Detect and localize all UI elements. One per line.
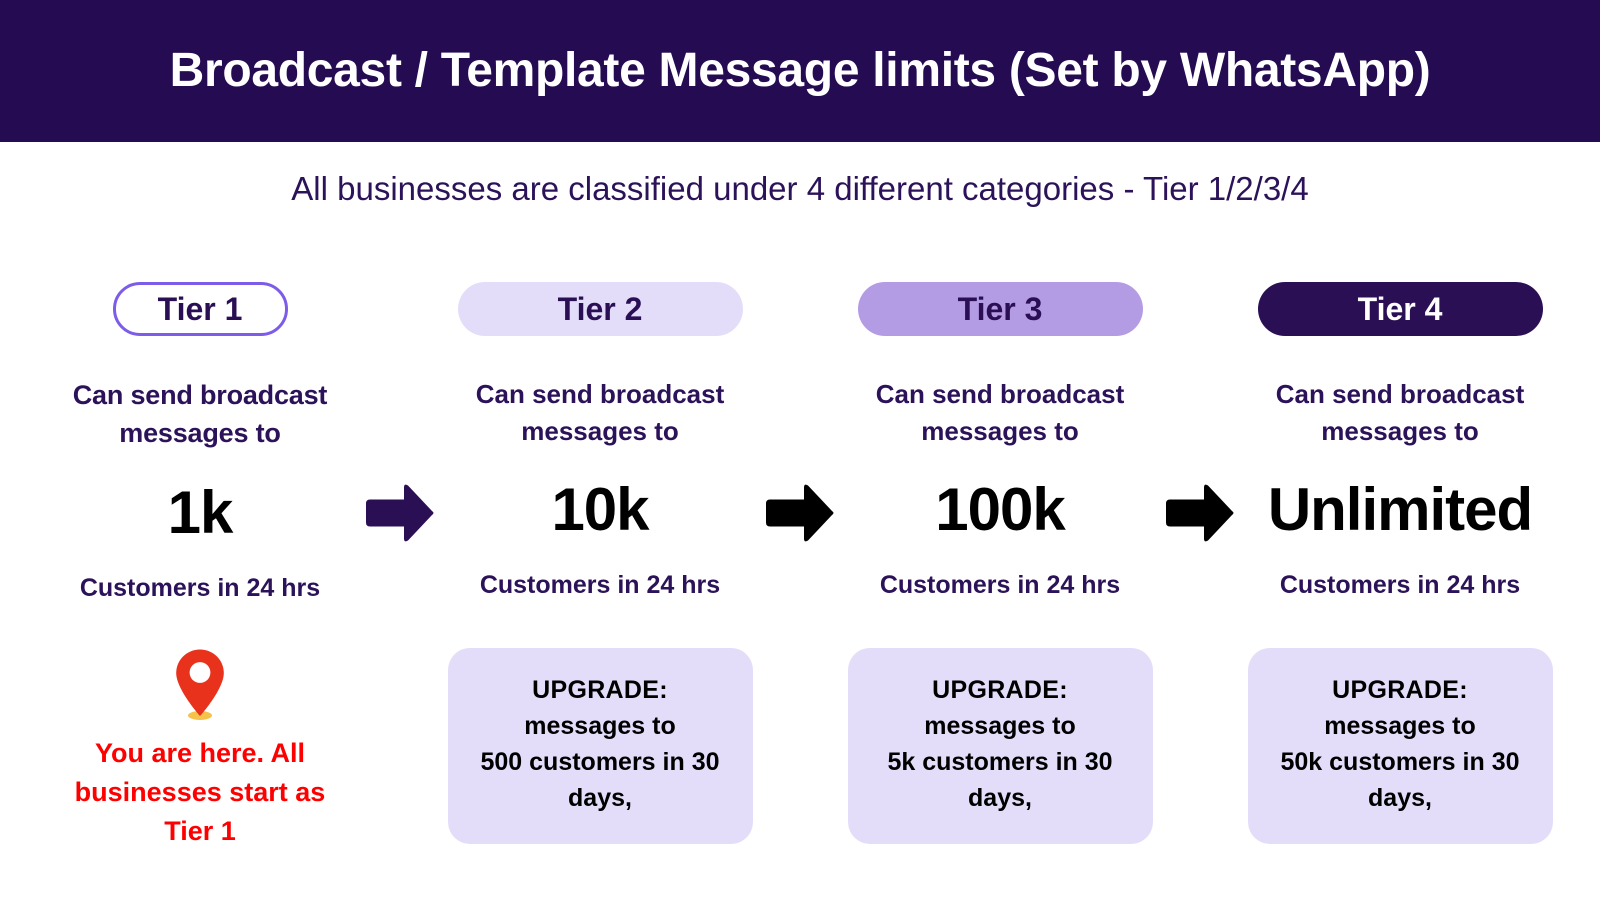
tier-description-line-2: messages to bbox=[450, 413, 750, 450]
tier-description-3: Can send broadcast messages to bbox=[850, 376, 1150, 450]
upgrade-card-2: UPGRADE: messages to 500 customers in 30… bbox=[448, 648, 753, 844]
upgrade-heading: UPGRADE: bbox=[532, 672, 668, 708]
tier-bottom-2: UPGRADE: messages to 500 customers in 30… bbox=[400, 648, 800, 844]
tier-description-line-2: messages to bbox=[850, 413, 1150, 450]
tier-limit-value-2: 10k bbox=[551, 480, 648, 540]
tier-description-1: Can send broadcast messages to bbox=[50, 376, 350, 453]
upgrade-line-3: 50k customers in 30 bbox=[1280, 744, 1519, 780]
upgrade-line-3: 500 customers in 30 bbox=[480, 744, 719, 780]
arrow-right-icon-1 bbox=[362, 482, 436, 544]
upgrade-heading: UPGRADE: bbox=[932, 672, 1068, 708]
tier-badge-1[interactable]: Tier 1 bbox=[113, 282, 288, 336]
upgrade-line-4: days, bbox=[968, 780, 1032, 816]
tier-limit-value-3: 100k bbox=[935, 480, 1064, 540]
upgrade-card-3: UPGRADE: messages to 5k customers in 30 … bbox=[848, 648, 1153, 844]
tier-column-3: Tier 3 Can send broadcast messages to 10… bbox=[800, 282, 1200, 882]
tier-column-2: Tier 2 Can send broadcast messages to 10… bbox=[400, 282, 800, 882]
upgrade-line-4: days, bbox=[568, 780, 632, 816]
tier-bottom-3: UPGRADE: messages to 5k customers in 30 … bbox=[800, 648, 1200, 844]
tier-columns: Tier 1 Can send broadcast messages to 1k… bbox=[0, 282, 1600, 882]
tier-description-line-1: Can send broadcast bbox=[850, 376, 1150, 413]
arrow-right-icon-2 bbox=[762, 482, 836, 544]
tier-column-4: Tier 4 Can send broadcast messages to Un… bbox=[1200, 282, 1600, 882]
tier-footnote-2: Customers in 24 hrs bbox=[480, 570, 720, 600]
tier-limit-value-4: Unlimited bbox=[1268, 480, 1532, 540]
tier-description-4: Can send broadcast messages to bbox=[1250, 376, 1550, 450]
tier-description-2: Can send broadcast messages to bbox=[450, 376, 750, 450]
upgrade-heading: UPGRADE: bbox=[1332, 672, 1468, 708]
upgrade-line-2: messages to bbox=[1324, 708, 1475, 744]
tier-description-line-1: Can send broadcast bbox=[450, 376, 750, 413]
tier-footnote-1: Customers in 24 hrs bbox=[80, 573, 320, 603]
upgrade-line-2: messages to bbox=[524, 708, 675, 744]
tier-badge-3[interactable]: Tier 3 bbox=[858, 282, 1143, 336]
subtitle-text: All businesses are classified under 4 di… bbox=[0, 168, 1600, 211]
tier-description-line-2: messages to bbox=[1250, 413, 1550, 450]
infographic-page: Broadcast / Template Message limits (Set… bbox=[0, 0, 1600, 900]
tier-limit-value-1: 1k bbox=[168, 483, 233, 543]
tier-bottom-1: You are here. All businesses start as Ti… bbox=[0, 648, 400, 851]
tier-footnote-3: Customers in 24 hrs bbox=[880, 570, 1120, 600]
tier-description-line-1: Can send broadcast bbox=[1250, 376, 1550, 413]
you-are-here-text: You are here. All businesses start as Ti… bbox=[50, 734, 350, 851]
tier-badge-2[interactable]: Tier 2 bbox=[458, 282, 743, 336]
tier-bottom-4: UPGRADE: messages to 50k customers in 30… bbox=[1200, 648, 1600, 844]
tier-badge-4[interactable]: Tier 4 bbox=[1258, 282, 1543, 336]
tier-description-line-1: Can send broadcast bbox=[50, 376, 350, 414]
upgrade-line-4: days, bbox=[1368, 780, 1432, 816]
tier-footnote-4: Customers in 24 hrs bbox=[1280, 570, 1520, 600]
upgrade-line-2: messages to bbox=[924, 708, 1075, 744]
page-title: Broadcast / Template Message limits (Set… bbox=[170, 45, 1431, 98]
tier-column-1: Tier 1 Can send broadcast messages to 1k… bbox=[0, 282, 400, 882]
tier-description-line-2: messages to bbox=[50, 414, 350, 452]
location-pin-icon bbox=[173, 648, 227, 720]
header-banner: Broadcast / Template Message limits (Set… bbox=[0, 0, 1600, 142]
upgrade-line-3: 5k customers in 30 bbox=[887, 744, 1112, 780]
you-are-here-marker: You are here. All businesses start as Ti… bbox=[50, 648, 350, 851]
arrow-right-icon-3 bbox=[1162, 482, 1236, 544]
upgrade-card-4: UPGRADE: messages to 50k customers in 30… bbox=[1248, 648, 1553, 844]
